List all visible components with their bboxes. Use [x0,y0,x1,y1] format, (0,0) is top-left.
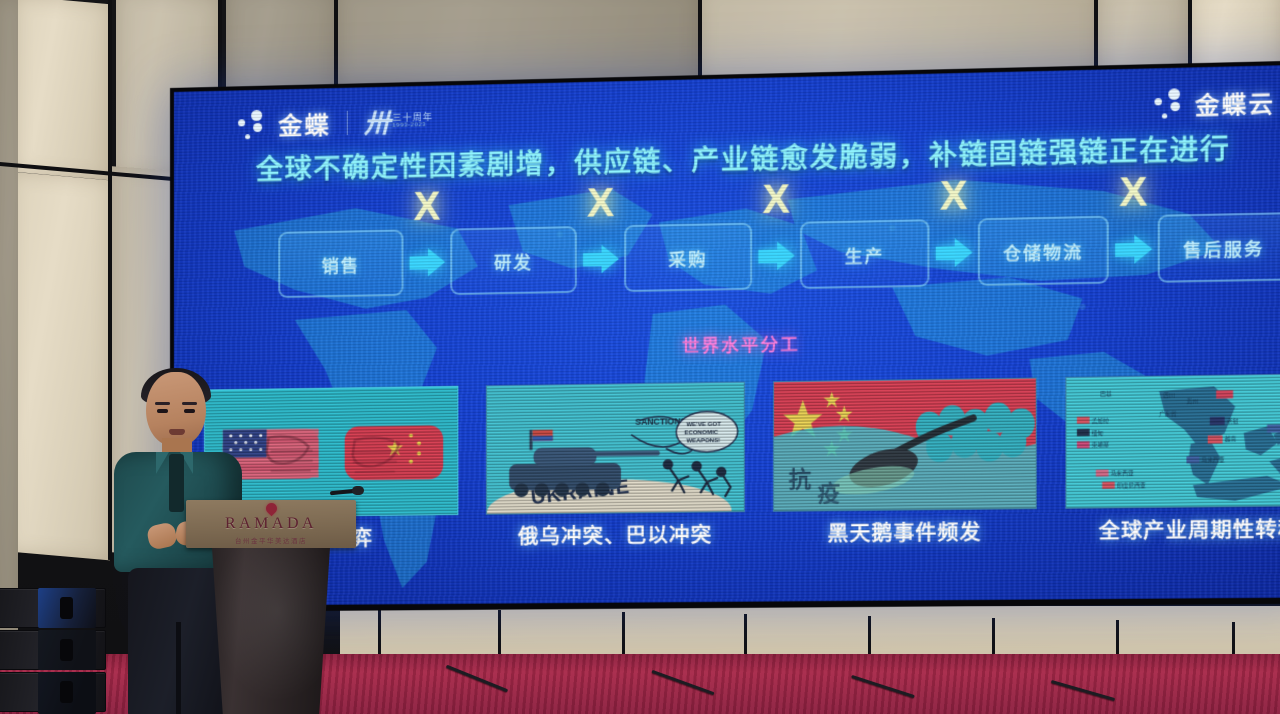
chain-break-x-icon: X [940,175,968,217]
photo-southeast-asia-flag-map: 孟加拉 缅甸 柬埔寨 马来西亚 印度尼西亚 巴基 四川 贵州 广东省 老挝 [1065,373,1280,509]
chain-node-production: 生产 [800,219,930,289]
chain-node-label: 生产 [845,241,885,267]
speaker-port [60,597,73,619]
presenter-eyebrow [155,402,170,405]
caption-conflicts: 俄乌冲突、巴以冲突 [486,518,745,557]
presenter-lapel-mic [169,454,184,512]
podium-brand: RAMADA [225,515,317,533]
speaker-side-panel [38,588,96,628]
presenter-eye [157,409,168,413]
chain-node-rnd: 研发 [450,226,577,295]
chain-arrow-icon: X [577,225,624,293]
anniversary-years: 1993-2023 [392,122,433,129]
chain-arrow-icon: X [929,218,977,287]
chain-node-procurement: 采购 [624,223,752,292]
speaker-side-panel [38,672,96,714]
photo-china-epidemic-poster: 抗 疫 [773,377,1037,511]
speaker-port [60,639,73,661]
presenter-mouth [169,429,185,435]
presenter-eyebrow [182,402,197,405]
anniversary-badge: 卅 三十周年 1993-2023 [364,102,433,141]
supply-chain-diagram: 销售 X 研发 X 采购 [278,210,1280,300]
evidence-photo-row: UKRAINE [204,373,1280,517]
caption-black-swan: 黑天鹅事件频发 [773,515,1037,554]
kingdee-cloud-logo: 金蝶云 星空 [1150,83,1280,122]
anniversary-mark-glyph: 卅 [364,103,387,141]
presenter-leg-gap [176,622,181,714]
chain-break-x-icon: X [587,183,614,224]
kingdee-logo: 金蝶 卅 三十周年 1993-2023 [234,102,433,144]
speaker-port [60,681,73,703]
kingdee-dots-icon [234,108,268,141]
podium-subtitle: 台州金平华美达酒店 [235,535,307,545]
podium-sign: RAMADA 台州金平华美达酒店 [186,500,356,548]
caption-industry-shift: 全球产业周期性转移 [1065,512,1280,552]
chain-node-label: 采购 [668,244,707,270]
chain-arrow-icon: X [752,222,800,290]
logo-divider [347,110,348,134]
chain-node-label: 售后服务 [1183,234,1264,261]
chain-arrow-icon: X [404,229,451,296]
chain-break-x-icon: X [762,179,790,220]
podium-body [204,548,338,714]
microphone-head-icon [352,486,364,495]
presenter-collar [156,452,169,474]
kingdee-cloud-dots-icon [1150,87,1186,121]
presenter-eye [184,409,195,413]
podium: RAMADA 台州金平华美达酒店 [186,500,356,714]
chain-arrow-icon: X [1109,215,1158,284]
chain-node-label: 研发 [494,248,533,274]
chain-node-label: 销售 [322,251,360,277]
chain-node-sales: 销售 [278,229,403,298]
chain-break-x-icon: X [413,186,440,227]
speaker-side-panel [38,630,96,670]
evidence-caption-row: 中美博弈 俄乌冲突、巴以冲突 黑天鹅事件频发 全球产业周期性转移 [204,512,1280,559]
kingdee-brand-text: 金蝶 [278,105,330,141]
chain-break-x-icon: X [1119,172,1147,214]
chain-node-label: 仓储物流 [1003,237,1083,264]
conference-photo-scene: 金蝶 卅 三十周年 1993-2023 金蝶云 [0,0,1280,714]
world-division-note: 世界水平分工 [682,330,800,357]
chain-node-after-sales: 售后服务 [1158,212,1280,283]
photo-ukraine-tank-cartoon: UKRAINE [486,382,745,515]
ramada-crest-icon [263,501,279,517]
chain-node-warehouse-logistics: 仓储物流 [978,216,1109,286]
kingdee-cloud-brand: 金蝶云 [1195,84,1275,121]
